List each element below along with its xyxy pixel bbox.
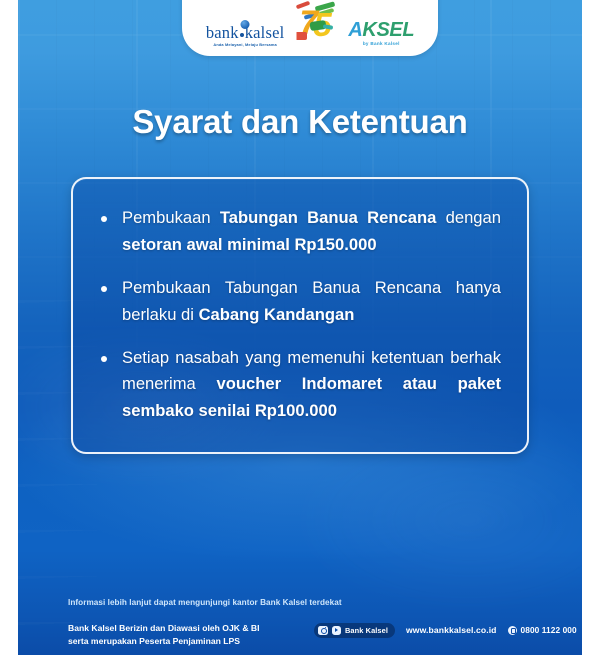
poster: bankkalsel Anda Melayani, Melaju Bersama… [0,0,600,655]
terms-list: Pembukaan Tabungan Banua Rencana dengan … [95,205,501,425]
bank-kalsel-dot-icon [240,33,244,37]
phone-number: 0800 1122 000 [521,625,577,635]
bank-kalsel-word-left: bank [206,23,239,42]
youtube-icon[interactable] [332,626,342,636]
footer-contact-bar: Bank Kalsel www.bankkalsel.co.id 0800 11… [314,623,577,638]
bank-kalsel-sphere-icon [241,20,250,29]
aksel-word-rest: KSEL [362,19,414,41]
aksel-wordmark: AKSEL [348,20,414,40]
anniversary-75-logo: 7 5 [293,1,339,47]
footer-note: Informasi lebih lanjut dapat mengunjungi… [68,598,342,607]
social-handle-pill[interactable]: Bank Kalsel [314,623,395,638]
footer-legal: Bank Kalsel Berizin dan Diawasi oleh OJK… [68,622,260,649]
list-item: Pembukaan Tabungan Banua Rencana hanya b… [95,275,501,329]
social-handle-label: Bank Kalsel [345,626,388,635]
page-title: Syarat dan Ketentuan [18,103,582,141]
anniversary-stripes-icon [295,32,307,40]
footer-legal-line-2: serta merupakan Peserta Penjaminan LPS [68,635,260,648]
aksel-logo: AKSEL by Bank Kalsel [348,20,414,47]
bank-kalsel-logo: bankkalsel Anda Melayani, Melaju Bersama [206,21,285,48]
logo-bar: bankkalsel Anda Melayani, Melaju Bersama… [182,0,438,56]
bank-kalsel-tagline: Anda Melayani, Melaju Bersama [206,42,285,47]
phone-icon [508,626,518,636]
aksel-tagline: by Bank Kalsel [348,41,414,46]
instagram-icon[interactable] [318,626,328,636]
poster-background: bankkalsel Anda Melayani, Melaju Bersama… [18,0,582,655]
phone-contact[interactable]: 0800 1122 000 [508,625,577,635]
terms-card: Pembukaan Tabungan Banua Rencana dengan … [71,177,529,454]
list-item: Setiap nasabah yang memenuhi ketentuan b… [95,345,501,426]
website-link[interactable]: www.bankkalsel.co.id [406,625,497,635]
list-item: Pembukaan Tabungan Banua Rencana dengan … [95,205,501,259]
aksel-word-first: A [348,19,362,41]
bank-kalsel-word-right: kalsel [245,23,285,42]
footer-legal-line-1: Bank Kalsel Berizin dan Diawasi oleh OJK… [68,622,260,635]
